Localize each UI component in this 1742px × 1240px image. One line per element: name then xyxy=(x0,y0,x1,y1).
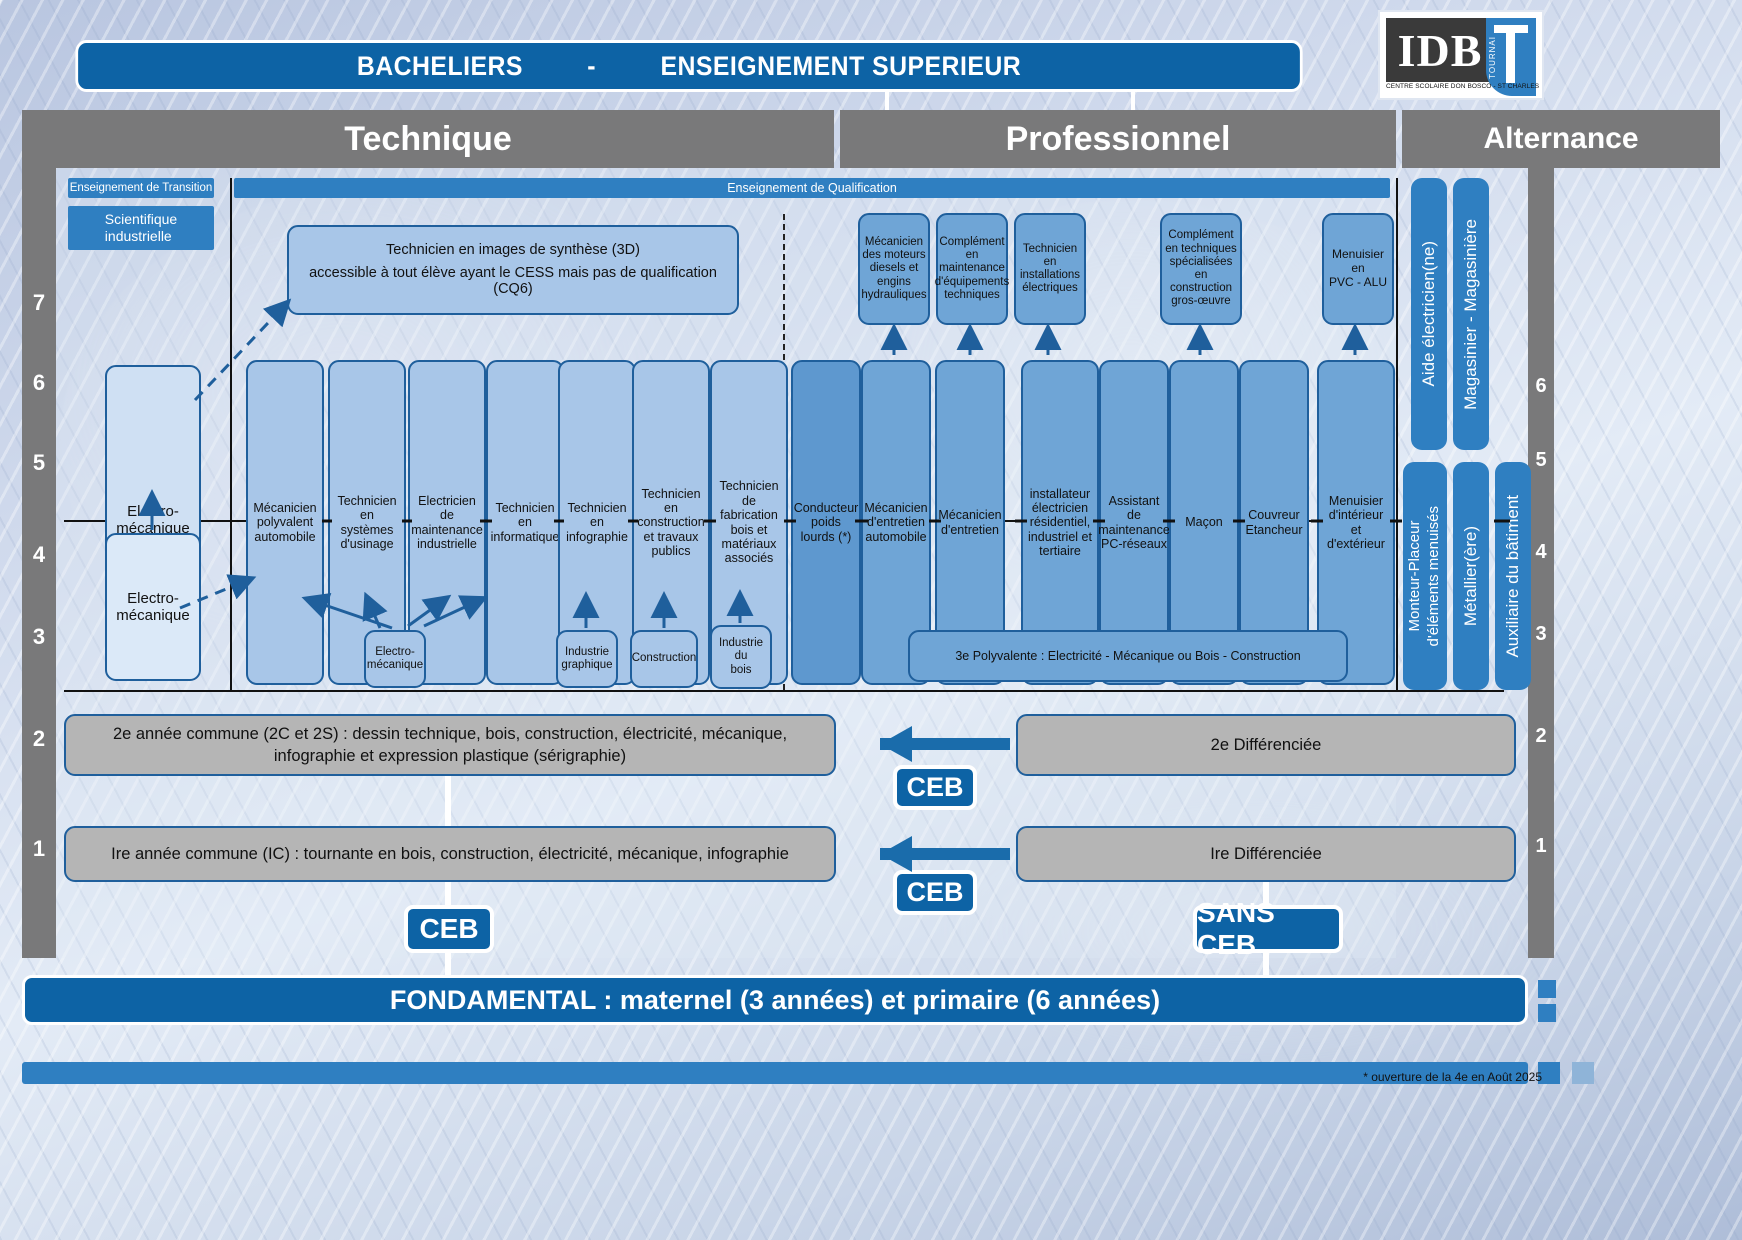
title-connector-2 xyxy=(1131,92,1135,112)
professionnel-top-box-7-label: Menuisier en PVC - ALU xyxy=(1329,248,1387,289)
year-label-2: 2 xyxy=(22,708,56,770)
page-title-right: ENSEIGNEMENT SUPERIEUR xyxy=(660,51,1021,82)
badge-ceb-1re: CEB xyxy=(893,870,977,915)
alternance-box-aide-electricien-label: Aide électricien(ne) xyxy=(1418,241,1439,387)
alternance-box-monteur-placeur[interactable]: Monteur-Placeur d'éléments menuisés xyxy=(1403,462,1447,690)
badge-ceb-2e: CEB xyxy=(893,765,977,810)
alternance-box-magasinier-label: Magasinier - Magasinière xyxy=(1460,219,1481,410)
row-1re-commune[interactable]: Ire année commune (IC) : tournante en bo… xyxy=(64,826,836,882)
technique-column-3[interactable]: Technicien en informatique xyxy=(486,360,564,685)
alternance-box-aide-electricien[interactable]: Aide électricien(ne) xyxy=(1411,178,1447,450)
row-1re-differenciee[interactable]: Ire Différenciée xyxy=(1016,826,1516,882)
ribbon-scientifique-industrielle: Scientifique industrielle xyxy=(68,206,214,250)
technique-column-2-label: Electricien de maintenance industrielle xyxy=(411,494,483,552)
professionnel-top-box-5-label: Complément en techniques spécialisées en… xyxy=(1164,229,1238,308)
technique-column-6-label: Technicien de fabrication bois et matéri… xyxy=(714,479,784,565)
school-logo: IDB TOURNAI CENTRE SCOLAIRE DON BOSCO - … xyxy=(1378,10,1544,100)
row-2e-differenciee-label: 2e Différenciée xyxy=(1211,734,1322,756)
logo-caption: CENTRE SCOLAIRE DON BOSCO - ST CHARLES xyxy=(1386,83,1496,90)
alternance-box-auxiliaire-batiment-label: Auxiliaire du bâtiment xyxy=(1502,495,1523,658)
professionnel-column-2-label: Mécanicien d'entretien xyxy=(938,508,1001,537)
polyvalente-label: 3e Polyvalente : Electricité - Mécanique… xyxy=(955,649,1300,663)
badge-sans-ceb: SANS CEB xyxy=(1193,905,1343,953)
technique-feeder-3-label: Industrie du bois xyxy=(719,637,763,677)
professionnel-top-box-3[interactable]: Technicien en installations électriques xyxy=(1014,213,1086,325)
divider-alternance xyxy=(1396,178,1398,690)
deco-square-1 xyxy=(1538,980,1556,998)
footnote: * ouverture de la 4e en Août 2025 xyxy=(1363,1070,1542,1084)
alternance-box-metallier[interactable]: Métallier(ère) xyxy=(1453,462,1489,690)
technique-feeder-1-label: Industrie graphique xyxy=(561,646,612,672)
professionnel-top-box-3-label: Technicien en installations électriques xyxy=(1020,243,1080,296)
year-label-6: 6 xyxy=(22,352,56,414)
footer-bar: FONDAMENTAL : maternel (3 années) et pri… xyxy=(22,975,1528,1025)
ribbon-enseignement-transition: Enseignement de Transition xyxy=(68,178,214,198)
transition-bottom-label: Electro- mécanique xyxy=(116,590,189,625)
professionnel-column-7-label: Menuisier d'intérieur et d'extérieur xyxy=(1321,494,1391,552)
section-band-technique: Technique xyxy=(22,110,834,168)
professionnel-top-box-1[interactable]: Mécanicien des moteurs diesels et engins… xyxy=(858,213,930,325)
divider-2nd-degree-line xyxy=(64,690,1504,692)
technique-feeder-1[interactable]: Industrie graphique xyxy=(556,630,618,688)
professionnel-column-3-label: installateur électricien résidentiel, in… xyxy=(1028,487,1092,559)
year-label-3: 3 xyxy=(22,606,56,668)
technique-column-0-label: Mécanicien polyvalent automobile xyxy=(253,501,316,544)
professionnel-top-box-1-label: Mécanicien des moteurs diesels et engins… xyxy=(861,236,926,302)
page-title-bar: BACHELIERS - ENSEIGNEMENT SUPERIEUR xyxy=(75,40,1302,92)
year-label-right-1: 1 xyxy=(1528,818,1554,874)
year-label-4: 4 xyxy=(22,524,56,586)
professionnel-top-box-2[interactable]: Complément en maintenance d'équipements … xyxy=(936,213,1008,325)
section-band-professionnel: Professionnel xyxy=(840,110,1396,168)
row-1re-commune-label: Ire année commune (IC) : tournante en bo… xyxy=(111,843,789,865)
professionnel-column-6-label: Couvreur Etancheur xyxy=(1246,508,1303,537)
section-band-alternance: Alternance xyxy=(1402,110,1720,168)
technique-feeder-2-label: Construction xyxy=(632,652,697,665)
technique-feeder-2[interactable]: Construction xyxy=(630,630,698,688)
deco-square-4 xyxy=(1572,1062,1594,1084)
bottom-strip xyxy=(22,1062,1528,1084)
year-label-right-6: 6 xyxy=(1528,358,1554,414)
year-label-5: 5 xyxy=(22,432,56,494)
year-label-7: 7 xyxy=(22,272,56,334)
row-2e-commune-label: 2e année commune (2C et 2S) : dessin tec… xyxy=(113,723,787,768)
technique-feeder-0[interactable]: Electro- mécanique xyxy=(364,630,426,688)
alternance-box-monteur-placeur-label: Monteur-Placeur d'éléments menuisés xyxy=(1406,506,1444,646)
technique-feeder-3[interactable]: Industrie du bois xyxy=(710,625,772,689)
professionnel-column-5-label: Maçon xyxy=(1185,515,1223,529)
divider-transition-qualification xyxy=(230,178,232,690)
cq6-line-1: Technicien en images de synthèse (3D) xyxy=(386,242,640,259)
logo-tournai-text: TOURNAI xyxy=(1488,36,1532,79)
year-label-right-5: 5 xyxy=(1528,432,1554,488)
technique-column-4-label: Technicien en infographie xyxy=(566,501,628,544)
year-label-right-4: 4 xyxy=(1528,524,1554,580)
professionnel-top-box-5[interactable]: Complément en techniques spécialisées en… xyxy=(1160,213,1242,325)
professionnel-column-4-label: Assistant de maintenance PC-réseaux xyxy=(1098,494,1170,552)
professionnel-column-0-label: Conducteur poids lourds (*) xyxy=(794,501,859,544)
year-label-right-3: 3 xyxy=(1528,606,1554,662)
year-label-right-2: 2 xyxy=(1528,708,1554,764)
ribbon-scientifique-label: Scientifique industrielle xyxy=(105,211,177,246)
page-title-left: BACHELIERS xyxy=(357,51,523,82)
deco-square-2 xyxy=(1538,1004,1556,1022)
transition-box-electromecanique-bottom[interactable]: Electro- mécanique xyxy=(105,533,201,681)
alternance-box-auxiliaire-batiment[interactable]: Auxiliaire du bâtiment xyxy=(1495,462,1531,690)
ribbon-enseignement-qualification: Enseignement de Qualification xyxy=(234,178,1390,198)
row-2e-differenciee[interactable]: 2e Différenciée xyxy=(1016,714,1516,776)
technique-feeder-0-label: Electro- mécanique xyxy=(367,646,423,672)
professionnel-top-box-2-label: Complément en maintenance d'équipements … xyxy=(935,236,1009,302)
row-1re-differenciee-label: Ire Différenciée xyxy=(1210,843,1322,865)
professionnel-column-0[interactable]: Conducteur poids lourds (*) xyxy=(791,360,861,685)
professionnel-top-box-7[interactable]: Menuisier en PVC - ALU xyxy=(1322,213,1394,325)
row-2e-commune[interactable]: 2e année commune (2C et 2S) : dessin tec… xyxy=(64,714,836,776)
badge-ceb-entry: CEB xyxy=(404,905,494,953)
alternance-box-metallier-label: Métallier(ère) xyxy=(1460,526,1481,626)
professionnel-column-1-label: Mécanicien d'entretien automobile xyxy=(864,501,927,544)
title-connector xyxy=(885,92,889,112)
polyvalente-box[interactable]: 3e Polyvalente : Electricité - Mécanique… xyxy=(908,630,1348,682)
page-title-dash: - xyxy=(587,51,596,82)
technique-column-5-label: Technicien en construction et travaux pu… xyxy=(637,487,704,559)
technique-column-3-label: Technicien en informatique xyxy=(491,501,560,544)
alternance-box-magasinier[interactable]: Magasinier - Magasinière xyxy=(1453,178,1489,450)
cq6-box[interactable]: Technicien en images de synthèse (3D) ac… xyxy=(287,225,739,315)
cq6-line-2: accessible à tout élève ayant le CESS ma… xyxy=(291,265,735,298)
technique-column-1-label: Technicien en systèmes d'usinage xyxy=(332,494,402,552)
year-label-1: 1 xyxy=(22,818,56,880)
technique-column-0[interactable]: Mécanicien polyvalent automobile xyxy=(246,360,324,685)
logo-mark: IDB xyxy=(1386,18,1494,82)
